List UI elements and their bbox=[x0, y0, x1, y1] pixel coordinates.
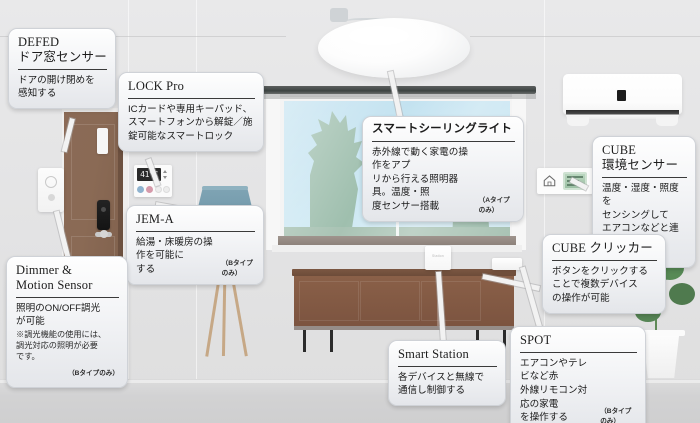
callout-cube-clicker-description: ボタンをクリックする ことで複数デバイス の操作が可能 bbox=[552, 265, 657, 306]
smart-lock-device bbox=[97, 200, 110, 230]
divider bbox=[18, 69, 107, 70]
callout-jem-a-type-label: （Bタイプのみ） bbox=[222, 257, 255, 277]
callout-smart-station-description: 各デバイスと無線で 通信し制御する bbox=[398, 371, 497, 398]
jema-button-cold bbox=[137, 186, 144, 193]
home-icon bbox=[542, 173, 557, 188]
smart-lock-indicator bbox=[101, 207, 106, 212]
divider bbox=[520, 352, 637, 353]
door-handle-knob bbox=[100, 230, 108, 238]
callout-dimmer-motion-sensor[interactable]: Dimmer & Motion Sensor 照明のON/OFF調光 が可能 ※… bbox=[6, 256, 128, 388]
divider bbox=[128, 98, 255, 99]
window-sill-trim bbox=[272, 245, 522, 252]
jema-updown-arrows-icon bbox=[162, 168, 169, 181]
callout-cube-clicker-title: CUBE クリッカー bbox=[552, 241, 657, 256]
divider bbox=[552, 260, 657, 261]
callout-cube-env-title: CUBE 環境センサー bbox=[602, 143, 687, 173]
callout-spot-description: エアコンやテレビなど赤 外線リモコン対応の家電 を操作する bbox=[520, 357, 596, 423]
callout-spot-type-label: （Bタイプのみ） bbox=[600, 405, 637, 423]
divider bbox=[602, 177, 687, 178]
callout-defed[interactable]: DEFED ドア窓センサー ドアの開け閉めを 感知する bbox=[8, 28, 116, 109]
spot-device bbox=[492, 258, 522, 270]
callout-lock-pro[interactable]: LOCK Pro ICカードや専用キーパッド、 スマートフォンから解錠／施 錠可… bbox=[118, 72, 264, 152]
smart-station-device-label: Station bbox=[427, 254, 449, 258]
callout-ceiling-light-type-label: （Aタイプのみ） bbox=[479, 194, 515, 214]
air-conditioner-flap-right bbox=[656, 117, 678, 126]
callout-dimmer-title: Dimmer & Motion Sensor bbox=[16, 263, 119, 293]
callout-lock-pro-title: LOCK Pro bbox=[128, 79, 255, 94]
callout-dimmer-type-label: （Bタイプのみ） bbox=[68, 370, 119, 377]
window-sill bbox=[278, 236, 516, 245]
window-post-left bbox=[266, 92, 280, 250]
floor-lamp-shade-top bbox=[202, 186, 248, 190]
divider bbox=[136, 231, 255, 232]
callout-dimmer-note: ※調光機能の使用には、 調光対応の照明が必要 です。 bbox=[16, 329, 119, 362]
sideboard-door bbox=[360, 281, 420, 321]
callout-dimmer-description: 照明のON/OFF調光 が可能 bbox=[16, 302, 119, 329]
callout-jem-a[interactable]: JEM-A 給湯・床暖房の操作を可能に する （Bタイプのみ） bbox=[126, 205, 264, 285]
divider bbox=[398, 366, 497, 367]
callout-jem-a-title: JEM-A bbox=[136, 212, 255, 227]
air-conditioner-flap-left bbox=[567, 117, 589, 126]
jema-button-hot bbox=[146, 186, 153, 193]
callout-cube-clicker[interactable]: CUBE クリッカー ボタンをクリックする ことで複数デバイス の操作が可能 bbox=[542, 234, 666, 314]
door-window-sensor-device bbox=[97, 128, 108, 154]
jema-button-blank bbox=[163, 186, 170, 193]
callout-lock-pro-description: ICカードや専用キーパッド、 スマートフォンから解錠／施 錠可能なスマートロック bbox=[128, 103, 255, 144]
jema-button-blank bbox=[155, 186, 162, 193]
dimmer-switch-plate bbox=[38, 168, 64, 212]
callout-ceiling-light-description: 赤外線で動く家電の操作をアプ リから行える照明器具。温度・照 度センサー搭載 bbox=[372, 146, 475, 214]
callout-smart-ceiling-light[interactable]: スマートシーリングライト 赤外線で動く家電の操作をアプ リから行える照明器具。温… bbox=[362, 116, 524, 222]
smart-home-diagram: 41℃ Station bbox=[0, 0, 700, 423]
dimmer-knob-icon bbox=[45, 176, 57, 188]
divider bbox=[372, 141, 515, 142]
motion-sensor-lens-icon bbox=[48, 194, 55, 201]
callout-spot[interactable]: SPOT エアコンやテレビなど赤 外線リモコン対応の家電 を操作する （Bタイプ… bbox=[510, 326, 646, 423]
curtain-rail-shadow bbox=[218, 94, 536, 99]
sideboard-leg bbox=[330, 330, 333, 352]
wall-seam-line bbox=[470, 36, 700, 37]
curtain-rail bbox=[218, 86, 536, 94]
callout-smart-station[interactable]: Smart Station 各デバイスと無線で 通信し制御する bbox=[388, 340, 506, 406]
sideboard-shadow bbox=[294, 326, 514, 330]
callout-spot-title: SPOT bbox=[520, 333, 637, 348]
sideboard-door bbox=[421, 281, 481, 321]
ceiling-light-highlight bbox=[348, 26, 410, 46]
ceiling-light-mount bbox=[330, 8, 348, 22]
callout-defed-title: DEFED ドア窓センサー bbox=[18, 35, 107, 65]
sideboard-door bbox=[299, 281, 359, 321]
callout-defed-description: ドアの開け閉めを 感知する bbox=[18, 74, 107, 101]
callout-ceiling-light-title: スマートシーリングライト bbox=[372, 123, 515, 137]
callout-jem-a-description: 給湯・床暖房の操作を可能に する bbox=[136, 236, 218, 277]
divider bbox=[16, 297, 119, 298]
sideboard-leg bbox=[303, 330, 306, 352]
smart-station-device bbox=[425, 246, 451, 270]
callout-smart-station-title: Smart Station bbox=[398, 347, 497, 362]
air-conditioner-display bbox=[617, 90, 626, 101]
